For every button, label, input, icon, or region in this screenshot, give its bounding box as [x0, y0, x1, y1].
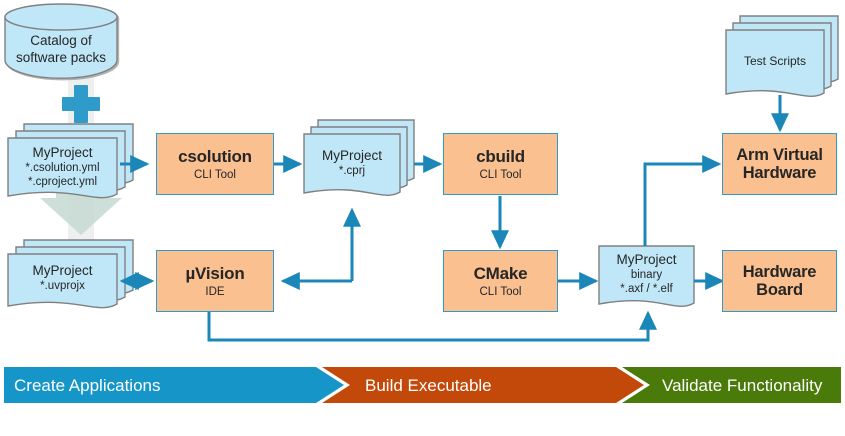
csolution-title: csolution [178, 147, 252, 166]
uvision-box[interactable]: µVision IDE [156, 250, 274, 312]
catalog-label: Catalog of software packs [5, 28, 117, 72]
diagram-graphics [0, 0, 845, 436]
hwboard-title-line2: Board [756, 281, 803, 299]
hwboard-title-line1: Hardware [743, 263, 817, 281]
banner-label-create[interactable]: Create Applications [14, 377, 160, 394]
binary-doc-shape [599, 246, 694, 306]
banner-label-build[interactable]: Build Executable [365, 377, 492, 394]
conn-uvision-to-binary [209, 312, 648, 340]
cmake-title: CMake [474, 264, 528, 283]
catalog-line2: software packs [16, 50, 106, 67]
csolution-subtitle: CLI Tool [194, 169, 236, 181]
cbuild-box[interactable]: cbuild CLI Tool [443, 133, 558, 195]
plus-icon [62, 85, 100, 123]
uvision-title: µVision [185, 264, 244, 283]
uvprojx-files-shape [8, 240, 133, 308]
avh-title-line1: Arm Virtual [736, 146, 822, 164]
cmake-subtitle: CLI Tool [480, 286, 522, 298]
catalog-line1: Catalog of [30, 33, 92, 50]
banner-label-validate[interactable]: Validate Functionality [662, 377, 822, 394]
arm-virtual-hardware-box[interactable]: Arm Virtual Hardware [722, 133, 837, 195]
test-scripts-shape [726, 16, 838, 96]
conn-binary-to-avh [645, 164, 719, 246]
cbuild-subtitle: CLI Tool [480, 169, 522, 181]
csolution-box[interactable]: csolution CLI Tool [156, 133, 274, 195]
diagram-canvas: Catalog of software packs MyProject *.cs… [0, 0, 845, 436]
cmake-box[interactable]: CMake CLI Tool [443, 250, 558, 312]
cbuild-title: cbuild [476, 147, 525, 166]
solution-files-shape [8, 124, 133, 198]
uvision-subtitle: IDE [205, 286, 224, 298]
cprj-files-shape [304, 120, 414, 195]
hardware-board-box[interactable]: Hardware Board [722, 250, 837, 312]
avh-title-line2: Hardware [743, 164, 817, 182]
